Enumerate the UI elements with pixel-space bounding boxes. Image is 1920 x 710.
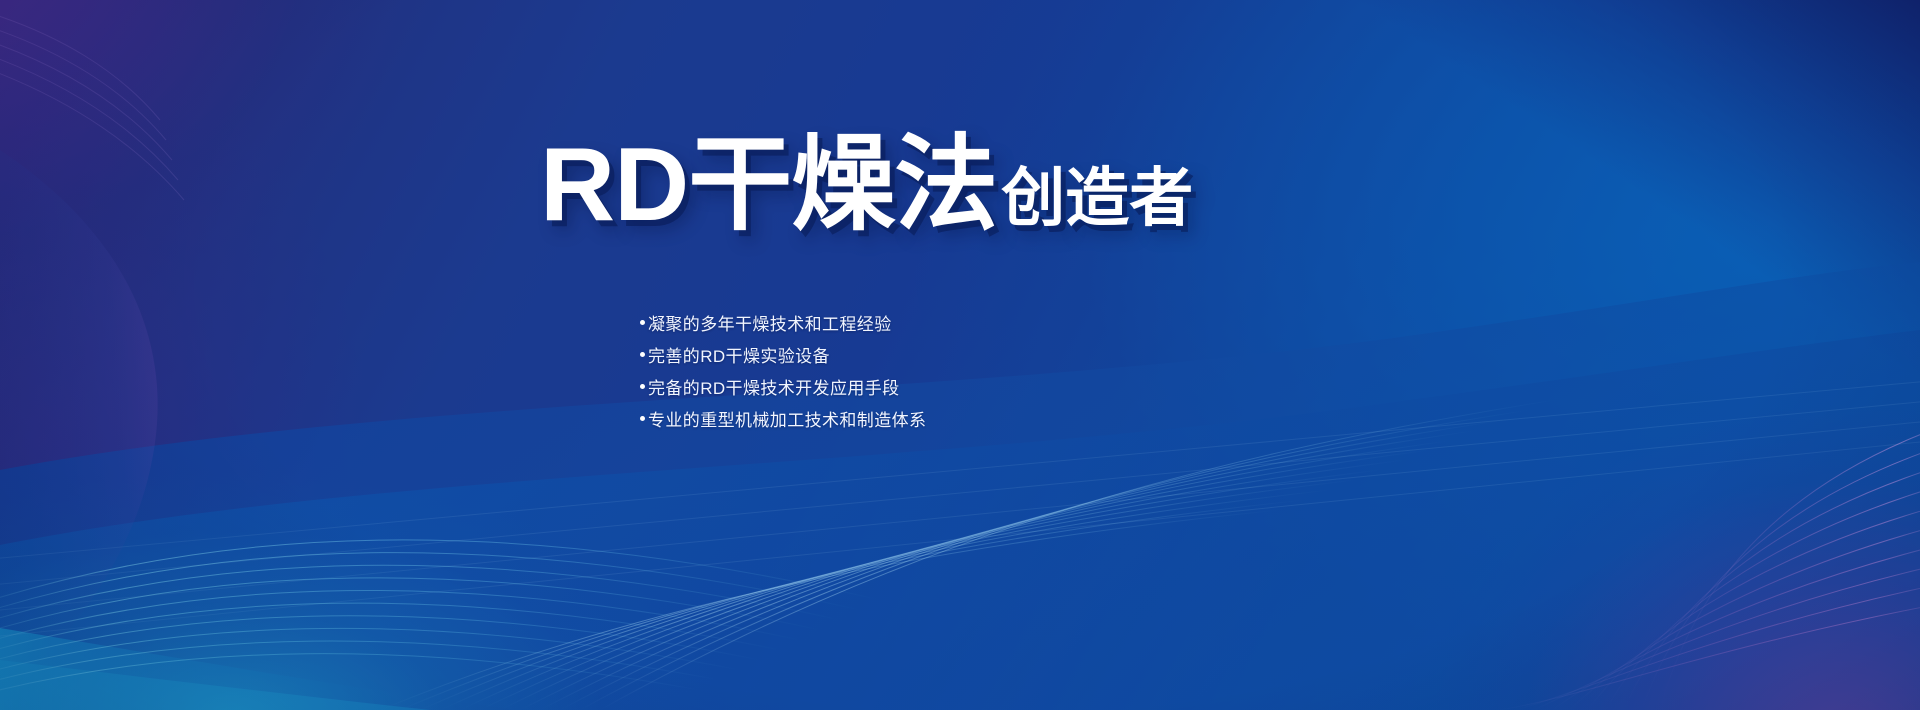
feature-bullet-list: 凝聚的多年干燥技术和工程经验 完善的RD干燥实验设备 完备的RD干燥技术开发应用…	[640, 308, 926, 436]
list-item: 完备的RD干燥技术开发应用手段	[640, 372, 926, 404]
bullet-dot-icon	[640, 416, 645, 421]
bullet-dot-icon	[640, 320, 645, 325]
bullet-text: 专业的重型机械加工技术和制造体系	[648, 411, 926, 430]
headline-main-text: RD干燥法	[540, 127, 997, 243]
banner-headline: RD干燥法创造者	[540, 133, 1193, 237]
bullet-text: 完善的RD干燥实验设备	[648, 347, 830, 366]
headline-sub-text: 创造者	[1001, 162, 1193, 234]
bullet-dot-icon	[640, 352, 645, 357]
banner-content: RD干燥法创造者 凝聚的多年干燥技术和工程经验 完善的RD干燥实验设备 完备的R…	[0, 0, 1920, 710]
bullet-dot-icon	[640, 384, 645, 389]
list-item: 完善的RD干燥实验设备	[640, 340, 926, 372]
list-item: 凝聚的多年干燥技术和工程经验	[640, 308, 926, 340]
bullet-text: 完备的RD干燥技术开发应用手段	[648, 379, 900, 398]
bullet-text: 凝聚的多年干燥技术和工程经验	[648, 315, 892, 334]
list-item: 专业的重型机械加工技术和制造体系	[640, 404, 926, 436]
promo-banner: RD干燥法创造者 凝聚的多年干燥技术和工程经验 完善的RD干燥实验设备 完备的R…	[0, 0, 1920, 710]
